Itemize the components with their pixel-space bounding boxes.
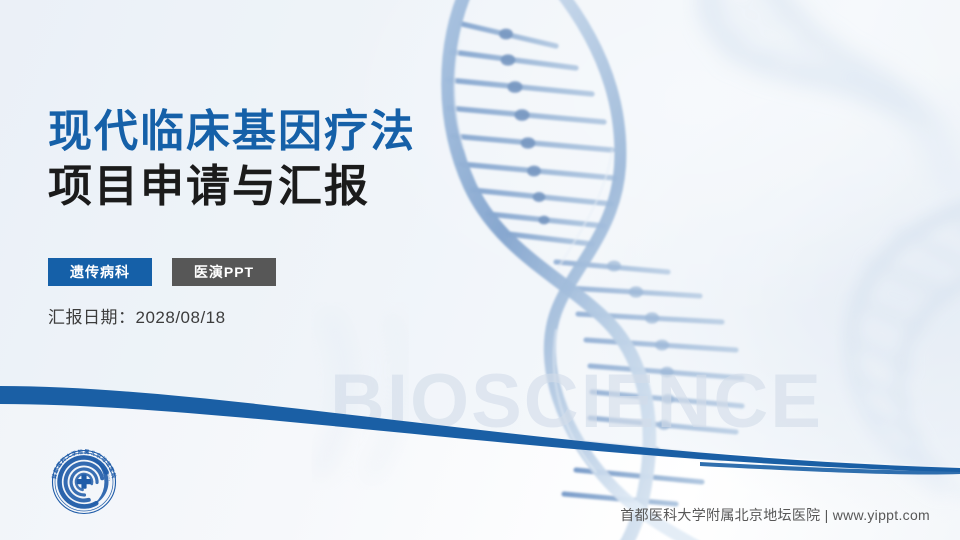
badge-group: 遗传病科 医演PPT (48, 258, 276, 286)
brand-badge[interactable]: 医演PPT (172, 258, 276, 286)
page-title-line-2: 项目申请与汇报 (48, 159, 416, 214)
page-title-line-1: 现代临床基因疗法 (48, 104, 416, 159)
report-date: 汇报日期：2028/08/18 (48, 303, 226, 328)
title-block: 现代临床基因疗法 项目申请与汇报 (48, 104, 416, 214)
footer-text: 首都医科大学附属北京地坛医院 | www.yippt.com (620, 505, 930, 525)
department-badge[interactable]: 遗传病科 (48, 258, 152, 286)
presentation-slide: BIOSCIENCE 现代临床基因疗法 项目申请与汇报 遗传病科 医演PPT 汇… (0, 0, 960, 540)
hospital-logo: 首都医科大学附属北京地坛医院 BEIJING DITAN HOSPITAL CA… (48, 446, 120, 518)
